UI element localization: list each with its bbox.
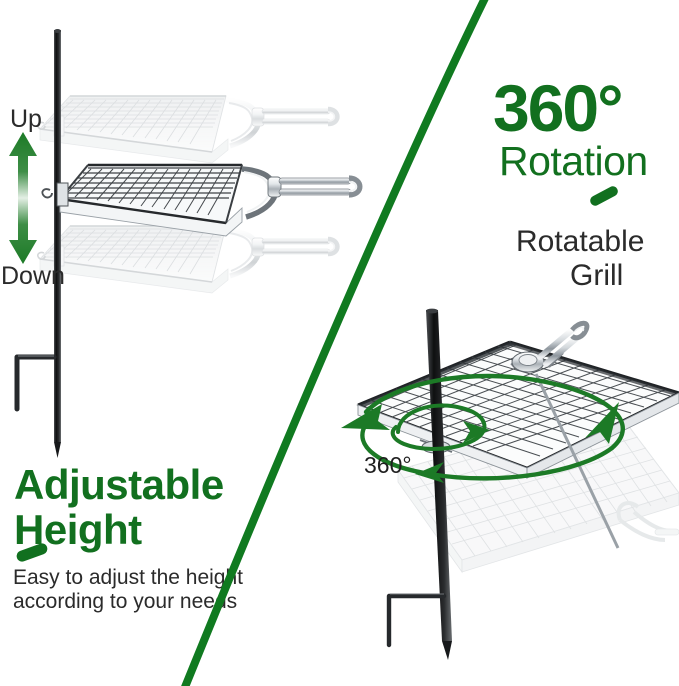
infographic-canvas: Up Down Adjustable Height Easy to adjust… [0,0,679,686]
rotation-degree-label: 360° [364,452,412,479]
circular-rotation-arrows-icon [0,0,679,686]
